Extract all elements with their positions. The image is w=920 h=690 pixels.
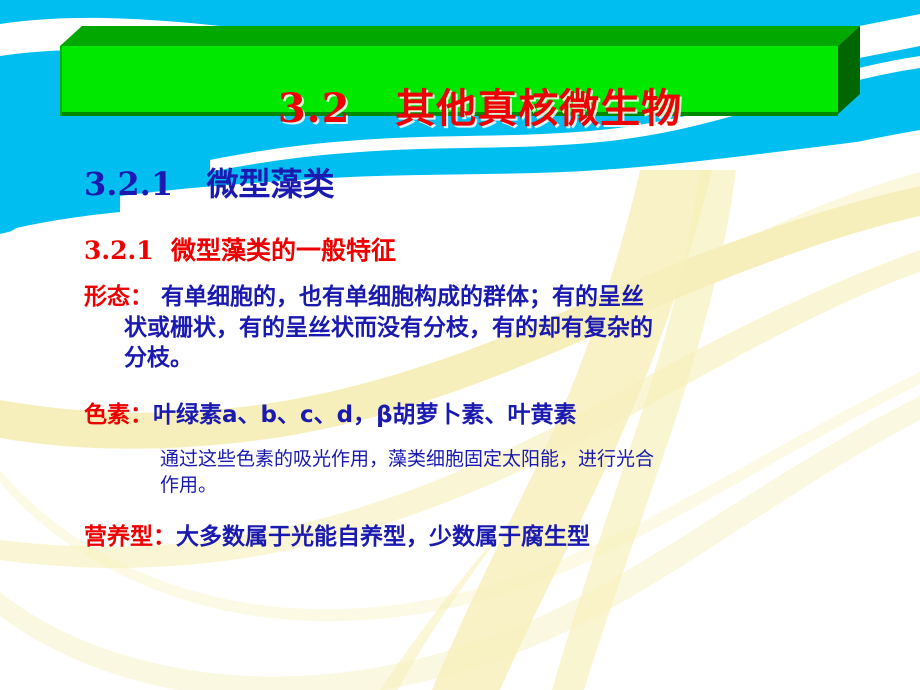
pigment-text: 叶绿素a、b、c、d，β胡萝卜素、叶黄素 (153, 402, 577, 428)
nutrition-text: 大多数属于光能自养型，少数属于腐生型 (176, 524, 590, 550)
paragraph-nutrition: 营养型：大多数属于光能自养型，少数属于腐生型 (84, 522, 894, 553)
morphology-line1: 有单细胞的，也有单细胞构成的群体；有的呈丝 (153, 284, 644, 310)
pigment-note-line1: 通过这些色素的吸光作用，藻类细胞固定太阳能，进行光合 (160, 448, 654, 470)
morphology-line2: 状或栅状，有的呈丝状而没有分枝，有的却有复杂的 (124, 313, 884, 344)
pigment-label: 色素： (84, 402, 153, 428)
nutrition-label: 营养型： (84, 524, 176, 550)
paragraph-pigment: 色素：叶绿素a、b、c、d，β胡萝卜素、叶黄素 (84, 400, 894, 431)
morphology-line3: 分枝。 (124, 343, 884, 374)
paragraph-pigment-note: 通过这些色素的吸光作用，藻类细胞固定太阳能，进行光合 作用。 (160, 446, 920, 498)
pigment-note-line2: 作用。 (160, 472, 920, 498)
slide-content: 3.2.1 微型藻类 3.2.1 微型藻类的一般特征 形态： 有单细胞的，也有单… (0, 0, 920, 690)
section-heading-level2: 3.2.1 微型藻类的一般特征 (84, 236, 396, 266)
paragraph-morphology: 形态： 有单细胞的，也有单细胞构成的群体；有的呈丝 状或栅状，有的呈丝状而没有分… (84, 282, 884, 374)
slide-canvas: 3.2 其他真核微生物 3.2.1 微型藻类 3.2.1 微型藻类的一般特征 形… (0, 0, 920, 690)
section-heading-level1: 3.2.1 微型藻类 (84, 166, 335, 204)
morphology-label: 形态： (84, 284, 153, 310)
